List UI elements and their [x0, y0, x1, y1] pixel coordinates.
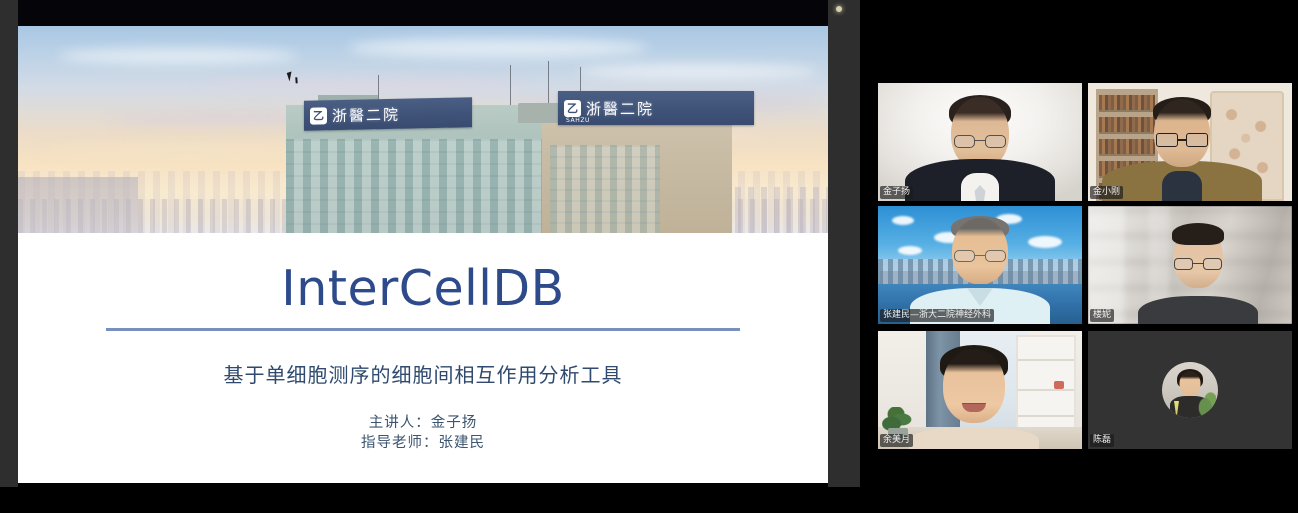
- slide-subtitle: 基于单细胞测序的细胞间相互作用分析工具: [18, 359, 828, 388]
- slide-presenter-block: 主讲人：金子扬 指导老师：张建民: [18, 413, 828, 453]
- slide-title: InterCellDB: [18, 260, 828, 317]
- participant-tile-1[interactable]: 金子扬: [878, 83, 1082, 201]
- participant-name-5: 余美月: [880, 434, 913, 447]
- bottom-status-bar: 的共享屏幕: [0, 487, 1298, 513]
- presentation-slide: 乙 浙醫二院 乙 浙醫二院 SAHZU InterCellDB 基于单细胞测序的…: [18, 26, 828, 483]
- participant-tile-6[interactable]: 陈磊: [1088, 331, 1292, 449]
- participant-video-4: [1088, 206, 1292, 324]
- participant-name-2: 金小刚: [1090, 186, 1123, 199]
- slide-divider: [106, 328, 740, 331]
- meeting-window: 乙 浙醫二院 乙 浙醫二院 SAHZU InterCellDB 基于单细胞测序的…: [0, 0, 1298, 513]
- participant-tile-2[interactable]: 金小刚: [1088, 83, 1292, 201]
- recording-dot-icon: [836, 6, 842, 12]
- participant-name-3: 张建民—浙大二院神经外科: [880, 309, 994, 322]
- sahzu-logo-icon-2: 乙: [564, 100, 581, 117]
- participant-video-1: [878, 83, 1082, 201]
- participant-tile-3[interactable]: 张建民—浙大二院神经外科: [878, 206, 1082, 324]
- participant-tile-4[interactable]: 楼妮: [1088, 206, 1292, 324]
- hospital-sign-left-text: 浙醫二院: [332, 103, 400, 125]
- participant-video-5: [878, 331, 1082, 449]
- slide-presenter-line: 主讲人：金子扬: [18, 413, 828, 433]
- slide-header-photo: 乙 浙醫二院 乙 浙醫二院 SAHZU: [18, 26, 828, 233]
- participant-name-1: 金子扬: [880, 186, 913, 199]
- participant-tile-5[interactable]: 余美月: [878, 331, 1082, 449]
- hospital-sign-left: 乙 浙醫二院: [304, 97, 472, 131]
- participant-video-3: [878, 206, 1082, 324]
- hospital-sign-right: 乙 浙醫二院 SAHZU: [558, 91, 754, 125]
- participant-gallery: 金子扬 金小刚: [860, 0, 1298, 513]
- participant-name-4: 楼妮: [1090, 309, 1114, 322]
- sahzu-abbr-text: SAHZU: [566, 117, 590, 124]
- screen-share-right-chrome: [828, 0, 860, 487]
- screen-share-top-chrome: [18, 0, 828, 26]
- screen-share-left-chrome: [0, 0, 18, 487]
- slide-advisor-line: 指导老师：张建民: [18, 433, 828, 453]
- avatar: [1162, 362, 1218, 418]
- participant-video-2: [1088, 83, 1292, 201]
- hospital-sign-right-text: 浙醫二院: [586, 98, 654, 119]
- slide-text-block: InterCellDB 基于单细胞测序的细胞间相互作用分析工具 主讲人：金子扬 …: [18, 233, 828, 483]
- shared-screen-region[interactable]: 乙 浙醫二院 乙 浙醫二院 SAHZU InterCellDB 基于单细胞测序的…: [0, 0, 860, 513]
- hospital-building-right: [542, 115, 732, 233]
- participant-name-6: 陈磊: [1090, 434, 1114, 447]
- sahzu-logo-icon: 乙: [310, 107, 327, 124]
- participant-video-6: [1088, 331, 1292, 449]
